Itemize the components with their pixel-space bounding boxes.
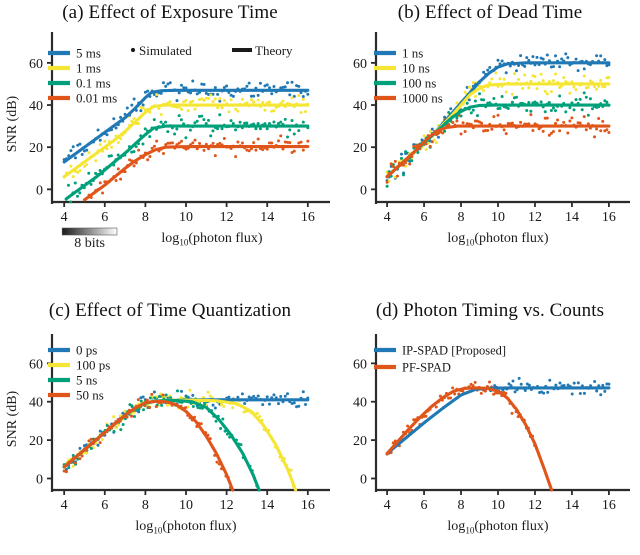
data-point xyxy=(568,92,571,95)
y-axis-ticks: 0204060 xyxy=(29,57,52,198)
data-point xyxy=(472,81,475,84)
data-point xyxy=(241,98,244,101)
data-point xyxy=(572,108,575,111)
legend-label[interactable]: 1 ms xyxy=(76,61,101,76)
data-point xyxy=(517,78,520,81)
data-point xyxy=(474,95,477,98)
data-point xyxy=(67,184,70,187)
data-point xyxy=(164,85,167,88)
legend-label[interactable]: 1 ns xyxy=(402,46,423,61)
y-tick-label: 40 xyxy=(353,396,367,411)
data-point xyxy=(241,142,244,145)
data-point xyxy=(187,109,190,112)
data-point xyxy=(554,384,557,387)
legend-label[interactable]: 100 ns xyxy=(402,76,436,91)
data-point xyxy=(449,397,452,400)
data-point xyxy=(585,128,588,131)
data-point xyxy=(544,90,547,93)
data-point xyxy=(302,121,305,124)
data-point xyxy=(192,405,195,408)
y-tick-label: 0 xyxy=(36,472,43,487)
data-point xyxy=(593,85,596,88)
data-point xyxy=(514,390,517,393)
data-point xyxy=(191,100,194,103)
data-point xyxy=(575,58,578,61)
data-point xyxy=(212,404,215,407)
x-tick-label: 8 xyxy=(458,210,465,225)
data-point xyxy=(185,99,188,102)
data-point xyxy=(137,149,140,152)
x-tick-label: 14 xyxy=(565,210,579,225)
y-tick-label: 40 xyxy=(353,99,367,114)
data-point xyxy=(519,54,522,57)
data-point xyxy=(261,403,264,406)
x-tick-label: 12 xyxy=(220,498,234,513)
data-point xyxy=(494,72,497,75)
data-point xyxy=(607,383,610,386)
data-point xyxy=(583,67,586,70)
svg-text:log10(photon flux): log10(photon flux) xyxy=(447,231,548,248)
data-point xyxy=(503,78,506,81)
data-point xyxy=(180,390,183,393)
y-tick-label: 20 xyxy=(29,141,43,156)
data-point xyxy=(486,129,489,132)
data-point xyxy=(552,65,555,68)
data-point xyxy=(248,149,251,152)
data-point xyxy=(221,127,224,130)
data-point xyxy=(277,402,280,405)
data-point xyxy=(480,392,483,395)
data-point xyxy=(455,101,458,104)
data-point xyxy=(87,172,90,175)
data-point xyxy=(540,73,543,76)
legend-label[interactable]: 0 ps xyxy=(76,343,97,358)
data-point xyxy=(169,100,172,103)
data-point xyxy=(148,135,151,138)
data-point xyxy=(214,86,217,89)
legend-label[interactable]: 0.01 ms xyxy=(76,91,117,106)
data-point xyxy=(115,127,118,130)
data-point xyxy=(184,136,187,139)
y-tick-label: 0 xyxy=(36,183,43,198)
y-axis-ticks: 0204060 xyxy=(353,357,376,487)
data-point xyxy=(225,85,228,88)
y-tick-label: 40 xyxy=(29,99,43,114)
data-point xyxy=(518,377,521,380)
data-point xyxy=(185,395,188,398)
data-point xyxy=(579,392,582,395)
legend-label[interactable]: PF-SPAD xyxy=(402,361,451,375)
data-point xyxy=(568,119,571,122)
data-point xyxy=(180,108,183,111)
data-point xyxy=(234,108,237,111)
data-point xyxy=(207,97,210,100)
data-point xyxy=(558,95,561,98)
data-point xyxy=(492,115,495,118)
data-point xyxy=(556,118,559,121)
data-point xyxy=(257,395,260,398)
legend-label[interactable]: 100 ps xyxy=(76,358,110,373)
data-point xyxy=(505,71,508,74)
data-point xyxy=(268,122,271,125)
data-point xyxy=(392,165,395,168)
data-point xyxy=(528,384,531,387)
data-point xyxy=(511,122,514,125)
data-point xyxy=(293,133,296,136)
data-point xyxy=(304,403,307,406)
data-point xyxy=(291,81,294,84)
data-point xyxy=(402,173,405,176)
data-point xyxy=(550,90,553,93)
data-point xyxy=(546,391,549,394)
data-point xyxy=(214,97,217,100)
data-point xyxy=(78,169,81,172)
data-point xyxy=(203,99,206,102)
x-tick-label: 6 xyxy=(101,498,108,513)
x-tick-label: 8 xyxy=(142,498,149,513)
data-point xyxy=(300,141,303,144)
data-point xyxy=(297,405,300,408)
data-point xyxy=(209,134,212,137)
data-point xyxy=(178,114,181,117)
data-point xyxy=(141,142,144,145)
data-point xyxy=(542,130,545,133)
data-point xyxy=(279,121,282,124)
data-point xyxy=(474,99,477,102)
data-point xyxy=(429,145,432,148)
data-point xyxy=(293,150,296,153)
data-point xyxy=(270,92,273,95)
data-point xyxy=(554,72,557,75)
data-point xyxy=(142,106,145,109)
data-point xyxy=(153,396,156,399)
figure-root: (a) Effect of Exposure Time 468101214160… xyxy=(0,0,640,555)
data-point xyxy=(200,115,203,118)
data-point xyxy=(297,85,300,88)
data-point xyxy=(180,140,183,143)
data-point xyxy=(462,121,465,124)
data-point xyxy=(254,149,257,152)
data-point xyxy=(133,98,136,101)
scatter-series xyxy=(386,380,541,455)
data-point xyxy=(568,106,571,109)
data-point xyxy=(566,56,569,59)
data-point xyxy=(470,111,473,114)
data-point xyxy=(97,444,100,447)
data-point xyxy=(221,418,224,421)
data-point xyxy=(291,96,294,99)
data-point xyxy=(587,114,590,117)
data-point xyxy=(243,402,246,405)
data-point xyxy=(137,398,140,401)
x-tick-label: 14 xyxy=(565,498,579,513)
y-tick-label: 60 xyxy=(353,357,367,372)
data-point xyxy=(72,465,75,468)
data-point xyxy=(577,381,580,384)
data-point xyxy=(410,159,413,162)
data-point xyxy=(227,110,230,113)
data-point xyxy=(191,394,194,397)
data-point xyxy=(455,117,458,120)
data-point xyxy=(153,145,156,148)
data-point xyxy=(482,89,485,92)
data-point xyxy=(194,108,197,111)
data-point xyxy=(302,98,305,101)
x-tick-label: 6 xyxy=(421,498,428,513)
data-point xyxy=(400,153,403,156)
x-tick-label: 6 xyxy=(421,210,428,225)
data-point xyxy=(550,109,553,112)
data-point xyxy=(544,110,547,113)
data-point xyxy=(114,426,117,429)
data-point xyxy=(288,141,291,144)
data-point xyxy=(585,96,588,99)
data-point xyxy=(110,146,113,149)
data-point xyxy=(85,163,88,166)
data-point xyxy=(140,400,143,403)
legend-label[interactable]: 5 ms xyxy=(76,46,101,61)
data-point xyxy=(595,389,598,392)
data-point xyxy=(460,132,463,135)
data-point xyxy=(65,470,68,473)
data-point xyxy=(191,141,194,144)
data-point xyxy=(529,110,532,113)
legend-label[interactable]: 0.1 ms xyxy=(76,76,111,91)
data-point xyxy=(589,97,592,100)
data-point xyxy=(250,98,253,101)
data-point xyxy=(558,129,561,132)
data-point xyxy=(435,406,438,409)
data-point xyxy=(282,100,285,103)
data-point xyxy=(236,110,239,113)
data-point xyxy=(214,154,217,157)
data-point xyxy=(162,152,165,155)
data-point xyxy=(492,97,495,100)
data-point xyxy=(542,392,545,395)
x-tick-label: 16 xyxy=(602,210,616,225)
data-point xyxy=(234,128,237,131)
data-point xyxy=(110,154,113,157)
legend-label[interactable]: 50 ns xyxy=(76,388,104,403)
data-point xyxy=(497,59,500,62)
data-point xyxy=(552,130,555,133)
data-point xyxy=(536,87,539,90)
data-point xyxy=(512,379,515,382)
data-point xyxy=(139,109,142,112)
panel-d-plot: 468101214160204060log10(photon flux)IP-S… xyxy=(340,300,640,555)
data-point xyxy=(579,122,582,125)
data-point xyxy=(390,162,393,165)
data-point xyxy=(211,129,214,132)
data-point xyxy=(279,395,282,398)
data-point xyxy=(158,395,161,398)
y-tick-label: 60 xyxy=(29,357,43,372)
data-point xyxy=(562,76,565,79)
data-point xyxy=(85,149,88,152)
data-point xyxy=(279,134,282,137)
data-point xyxy=(144,127,147,130)
data-point xyxy=(78,457,81,460)
data-point xyxy=(291,119,294,122)
data-point xyxy=(441,132,444,135)
data-point xyxy=(142,103,145,106)
legend-label[interactable]: IP-SPAD [Proposed] xyxy=(402,344,506,358)
data-point xyxy=(101,438,104,441)
data-point xyxy=(245,122,248,125)
data-point xyxy=(203,83,206,86)
data-point xyxy=(302,95,305,98)
data-point xyxy=(587,86,590,89)
x-axis-label: log10(photon flux) xyxy=(447,519,548,536)
data-point xyxy=(490,128,493,131)
data-point xyxy=(607,131,610,134)
data-point xyxy=(189,129,192,132)
data-point xyxy=(78,447,81,450)
data-point xyxy=(515,96,518,99)
data-point xyxy=(117,167,120,170)
x-axis-label: log10(photon flux) xyxy=(161,231,262,248)
data-point xyxy=(511,93,514,96)
data-point xyxy=(162,393,165,396)
data-point xyxy=(74,156,77,159)
x-tick-label: 4 xyxy=(384,498,391,513)
data-point xyxy=(113,430,116,433)
data-point xyxy=(263,109,266,112)
legend-theory-label: Theory xyxy=(255,43,293,58)
panel-b: (b) Effect of Dead Time 4681012141602040… xyxy=(340,2,640,280)
data-point xyxy=(191,79,194,82)
data-point xyxy=(552,106,555,109)
data-point xyxy=(297,129,300,132)
x-axis-ticks: 46810121416 xyxy=(384,202,616,225)
data-point xyxy=(474,381,477,384)
data-point xyxy=(132,150,135,153)
data-point xyxy=(482,98,485,101)
data-point xyxy=(468,85,471,88)
data-point xyxy=(394,160,397,163)
data-point xyxy=(99,441,102,444)
x-tick-label: 12 xyxy=(528,210,542,225)
data-point xyxy=(601,120,604,123)
colorbar-label: 8 bits xyxy=(74,236,105,251)
legend-label[interactable]: 5 ns xyxy=(76,373,97,388)
data-point xyxy=(230,119,233,122)
data-point xyxy=(175,128,178,131)
data-point xyxy=(505,132,508,135)
data-point xyxy=(595,54,598,57)
data-point xyxy=(101,192,104,195)
data-point xyxy=(599,79,602,82)
legend-label[interactable]: 10 ns xyxy=(402,61,430,76)
svg-text:log10(photon flux): log10(photon flux) xyxy=(135,519,236,536)
data-point xyxy=(85,452,88,455)
data-point xyxy=(527,86,530,89)
data-point xyxy=(501,95,504,98)
data-point xyxy=(117,141,120,144)
data-point xyxy=(97,129,100,132)
y-tick-label: 20 xyxy=(353,434,367,449)
data-point xyxy=(234,155,237,158)
data-point xyxy=(523,65,526,68)
data-point xyxy=(78,191,81,194)
data-point xyxy=(216,93,219,96)
data-point xyxy=(451,121,454,124)
data-point xyxy=(564,52,567,55)
data-point xyxy=(408,162,411,165)
data-point xyxy=(266,83,269,86)
data-point xyxy=(218,97,221,100)
data-point xyxy=(153,118,156,121)
data-point xyxy=(425,148,428,151)
data-point xyxy=(212,142,215,145)
data-point xyxy=(231,406,234,409)
y-tick-label: 0 xyxy=(360,183,367,198)
data-point xyxy=(76,195,79,198)
panel-a: (a) Effect of Exposure Time 468101214160… xyxy=(0,2,340,280)
data-point xyxy=(288,128,291,131)
data-point xyxy=(286,392,289,395)
data-point xyxy=(476,114,479,117)
data-point xyxy=(207,391,210,394)
data-point xyxy=(449,107,452,110)
data-point xyxy=(203,149,206,152)
data-point xyxy=(571,393,574,396)
data-point xyxy=(558,65,561,68)
data-point xyxy=(306,140,309,143)
data-point xyxy=(581,108,584,111)
data-point xyxy=(480,122,483,125)
data-point xyxy=(603,85,606,88)
legend: 0 ps100 ps5 ns50 ns xyxy=(48,343,110,403)
data-point xyxy=(533,75,536,78)
data-point xyxy=(423,134,426,137)
data-point xyxy=(257,138,260,141)
data-point xyxy=(272,121,275,124)
data-point xyxy=(245,85,248,88)
data-point xyxy=(175,99,178,102)
data-point xyxy=(146,90,149,93)
theory-curve xyxy=(64,401,259,490)
x-tick-label: 4 xyxy=(61,210,68,225)
x-tick-label: 6 xyxy=(101,210,108,225)
y-axis-label: SNR (dB) xyxy=(5,95,20,152)
data-point xyxy=(599,129,602,132)
legend-label[interactable]: 1000 ns xyxy=(402,91,443,106)
data-point xyxy=(583,91,586,94)
data-point xyxy=(266,395,269,398)
panel-a-plot: 468101214160204060SNR (dB)log10(photon f… xyxy=(0,2,340,280)
data-point xyxy=(171,141,174,144)
data-point xyxy=(558,381,561,384)
data-point xyxy=(155,140,158,143)
x-tick-label: 8 xyxy=(458,498,465,513)
data-point xyxy=(488,380,491,383)
data-point xyxy=(511,412,514,415)
data-point xyxy=(272,85,275,88)
data-point xyxy=(155,93,158,96)
x-axis-ticks: 46810121416 xyxy=(61,202,315,225)
data-point xyxy=(272,109,275,112)
data-point xyxy=(148,406,151,409)
data-point xyxy=(306,93,309,96)
x-tick-label: 10 xyxy=(179,210,193,225)
data-point xyxy=(160,121,163,124)
data-point xyxy=(90,447,93,450)
data-point xyxy=(501,59,504,62)
data-point xyxy=(519,121,522,124)
data-point xyxy=(599,393,602,396)
data-point xyxy=(106,133,109,136)
